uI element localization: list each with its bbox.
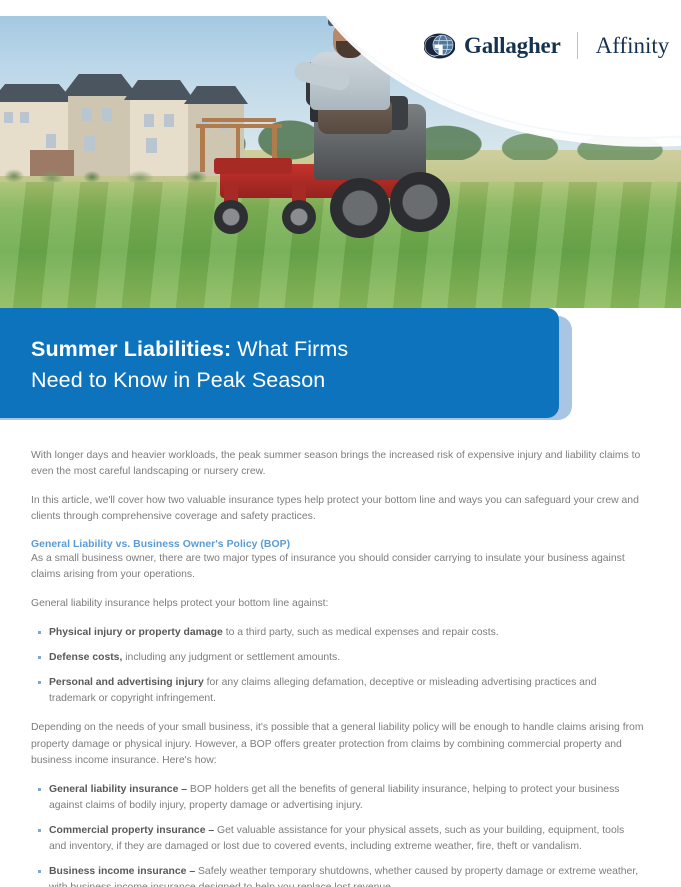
list-item: Defense costs, including any judgment or… <box>31 650 643 666</box>
page-title: Summer Liabilities: What Firms Need to K… <box>31 334 559 395</box>
gallagher-globe-icon <box>424 33 455 59</box>
page-title-rest: What Firms <box>231 337 348 361</box>
intro-paragraph-1: With longer days and heavier workloads, … <box>31 448 650 480</box>
article-body: With longer days and heavier workloads, … <box>0 420 681 887</box>
list-item: Personal and advertising injury for any … <box>31 675 643 707</box>
list-item: Physical injury or property damage to a … <box>31 625 643 641</box>
list-item: Commercial property insurance – Get valu… <box>31 823 643 855</box>
bop-bullets: General liability insurance – BOP holder… <box>31 782 650 887</box>
list-item: Business income insurance – Safely weath… <box>31 864 643 887</box>
gl-lead-in: General liability insurance helps protec… <box>31 596 650 612</box>
page-title-line2: Need to Know in Peak Season <box>31 368 325 392</box>
title-banner-wrap: Summer Liabilities: What Firms Need to K… <box>0 308 681 420</box>
list-item-lead: Business income insurance – <box>49 866 195 877</box>
list-item: General liability insurance – BOP holder… <box>31 782 643 814</box>
intro-paragraph-2: In this article, we'll cover how two val… <box>31 493 650 525</box>
gallagher-affinity-logo[interactable]: Gallagher Affinity <box>424 32 669 59</box>
logo-unit-name: Affinity <box>596 33 670 59</box>
logo-wordmark: Gallagher <box>464 33 561 59</box>
bop-paragraph: Depending on the needs of your small bus… <box>31 720 650 768</box>
list-item-text: including any judgment or settlement amo… <box>122 652 340 663</box>
section-paragraph: As a small business owner, there are two… <box>31 551 650 583</box>
section-heading-gl-vs-bop: General Liability vs. Business Owner's P… <box>31 539 650 550</box>
hero-banner: Gallagher Affinity <box>0 0 681 308</box>
list-item-lead: Defense costs, <box>49 652 122 663</box>
list-item-lead: Physical injury or property damage <box>49 627 223 638</box>
list-item-lead: Personal and advertising injury <box>49 677 204 688</box>
list-item-lead: General liability insurance – <box>49 784 187 795</box>
page-title-bold: Summer Liabilities: <box>31 337 231 361</box>
swoosh-top-fill <box>0 0 681 16</box>
list-item-text: to a third party, such as medical expens… <box>223 627 499 638</box>
list-item-lead: Commercial property insurance – <box>49 825 214 836</box>
logo-divider <box>577 32 578 59</box>
title-banner: Summer Liabilities: What Firms Need to K… <box>0 308 559 418</box>
general-liability-bullets: Physical injury or property damage to a … <box>31 625 650 708</box>
